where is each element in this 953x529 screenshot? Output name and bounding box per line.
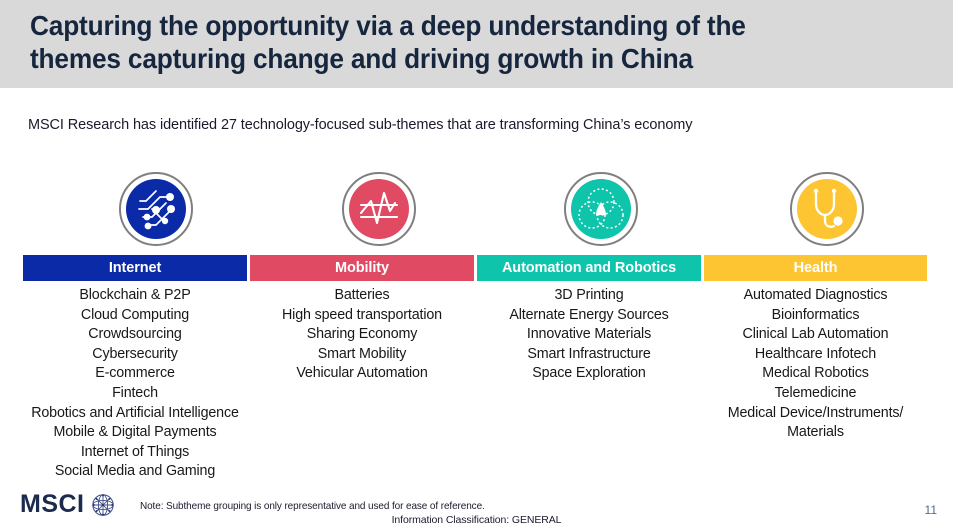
list-item: Healthcare Infotech xyxy=(704,345,927,365)
list-item: Telemedicine xyxy=(704,384,927,404)
list-item: Bioinformatics xyxy=(704,306,927,326)
list-item: Medical Robotics xyxy=(704,364,927,384)
list-item: Sharing Economy xyxy=(250,325,474,345)
icon-cell-automation xyxy=(564,172,638,246)
globe-icon xyxy=(91,493,115,517)
list-item: Medical Device/Instruments/ Materials xyxy=(704,404,927,443)
title-banner: Capturing the opportunity via a deep und… xyxy=(0,0,953,88)
subtheme-columns: Blockchain & P2P Cloud Computing Crowdso… xyxy=(23,286,927,476)
subtheme-column-health: Automated Diagnostics Bioinformatics Cli… xyxy=(704,286,927,443)
list-item: Cloud Computing xyxy=(23,306,247,326)
information-classification: Information Classification: GENERAL xyxy=(0,514,953,526)
list-item: Automated Diagnostics xyxy=(704,286,927,306)
category-bar-automation[interactable]: Automation and Robotics xyxy=(477,255,701,281)
category-bar-health[interactable]: Health xyxy=(704,255,927,281)
list-item: Social Media and Gaming xyxy=(23,462,247,482)
list-item: Smart Mobility xyxy=(250,345,474,365)
subtheme-column-mobility: Batteries High speed transportation Shar… xyxy=(250,286,474,384)
list-item: Alternate Energy Sources xyxy=(477,306,701,326)
subtitle: MSCI Research has identified 27 technolo… xyxy=(28,117,692,133)
list-item: Crowdsourcing xyxy=(23,325,247,345)
category-bars: Internet Mobility Automation and Robotic… xyxy=(23,255,927,281)
list-item: Robotics and Artificial Intelligence xyxy=(23,404,247,424)
list-item: Fintech xyxy=(23,384,247,404)
list-item: Blockchain & P2P xyxy=(23,286,247,306)
pulse-wave-icon xyxy=(349,179,409,239)
footer-note: Note: Subtheme grouping is only represen… xyxy=(140,500,485,512)
list-item: 3D Printing xyxy=(477,286,701,306)
list-item: Innovative Materials xyxy=(477,325,701,345)
icon-cell-internet xyxy=(119,172,193,246)
subtheme-column-automation: 3D Printing Alternate Energy Sources Inn… xyxy=(477,286,701,384)
list-item: Batteries xyxy=(250,286,474,306)
circuit-board-icon xyxy=(126,179,186,239)
list-item: Cybersecurity xyxy=(23,345,247,365)
icon-cell-mobility xyxy=(342,172,416,246)
list-item: Clinical Lab Automation xyxy=(704,325,927,345)
list-item: Smart Infrastructure xyxy=(477,345,701,365)
list-item: Vehicular Automation xyxy=(250,364,474,384)
list-item: Space Exploration xyxy=(477,364,701,384)
list-item: High speed transportation xyxy=(250,306,474,326)
venn-circles-icon xyxy=(571,179,631,239)
category-icons-row xyxy=(23,172,927,246)
category-bar-mobility[interactable]: Mobility xyxy=(250,255,474,281)
stethoscope-icon xyxy=(797,179,857,239)
page-number: 11 xyxy=(925,503,937,517)
subtheme-column-internet: Blockchain & P2P Cloud Computing Crowdso… xyxy=(23,286,247,482)
list-item: Mobile & Digital Payments xyxy=(23,423,247,443)
list-item: E-commerce xyxy=(23,364,247,384)
list-item: Internet of Things xyxy=(23,443,247,463)
category-bar-internet[interactable]: Internet xyxy=(23,255,247,281)
page-title: Capturing the opportunity via a deep und… xyxy=(30,9,883,75)
icon-cell-health xyxy=(790,172,864,246)
